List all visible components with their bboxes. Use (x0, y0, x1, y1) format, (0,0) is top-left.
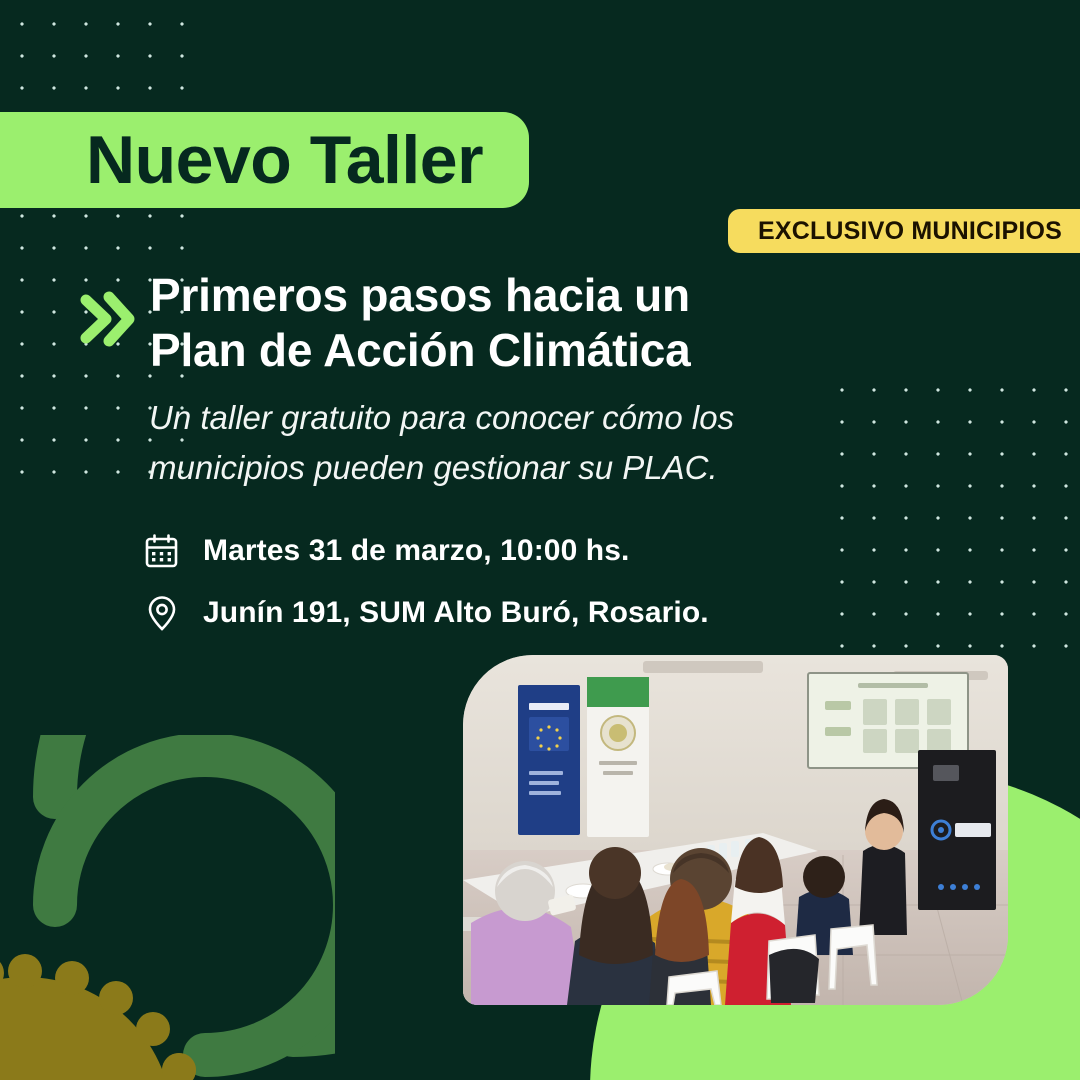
event-location-row: Junín 191, SUM Alto Buró, Rosario. (141, 582, 709, 644)
headline-text: Primeros pasos hacia un Plan de Acción C… (150, 268, 691, 377)
headline-line-2: Plan de Acción Climática (150, 323, 691, 378)
headline-line-1: Primeros pasos hacia un (150, 268, 691, 323)
headline-block: Primeros pasos hacia un Plan de Acción C… (76, 268, 691, 377)
title-pill: Nuevo Taller (0, 112, 529, 208)
poster-canvas: Nuevo Taller EXCLUSIVO MUNICIPIOS Primer… (0, 0, 1080, 1080)
event-location-text: Junín 191, SUM Alto Buró, Rosario. (203, 596, 709, 630)
swirl-inner-arc (55, 755, 335, 1055)
status-badge: EXCLUSIVO MUNICIPIOS (728, 209, 1080, 253)
gold-seal (0, 954, 196, 1080)
calendar-icon (141, 530, 183, 572)
double-chevron-icon (76, 284, 138, 354)
map-pin-icon (141, 592, 183, 634)
page-title: Nuevo Taller (86, 126, 483, 194)
event-date-text: Martes 31 de marzo, 10:00 hs. (203, 534, 629, 568)
event-date-row: Martes 31 de marzo, 10:00 hs. (141, 520, 709, 582)
status-badge-label: EXCLUSIVO MUNICIPIOS (758, 217, 1062, 246)
subtitle-line-2: municipios pueden gestionar su PLAC. (149, 443, 769, 493)
swirl-outer-arc (55, 735, 335, 1035)
dot-grid-right (826, 374, 1080, 674)
swirl-decoration (0, 735, 335, 1080)
event-details: Martes 31 de marzo, 10:00 hs. Junín 191,… (141, 520, 709, 644)
subtitle-line-1: Un taller gratuito para conocer cómo los (149, 393, 769, 443)
subtitle-block: Un taller gratuito para conocer cómo los… (149, 393, 769, 493)
workshop-photo (463, 655, 1008, 1005)
